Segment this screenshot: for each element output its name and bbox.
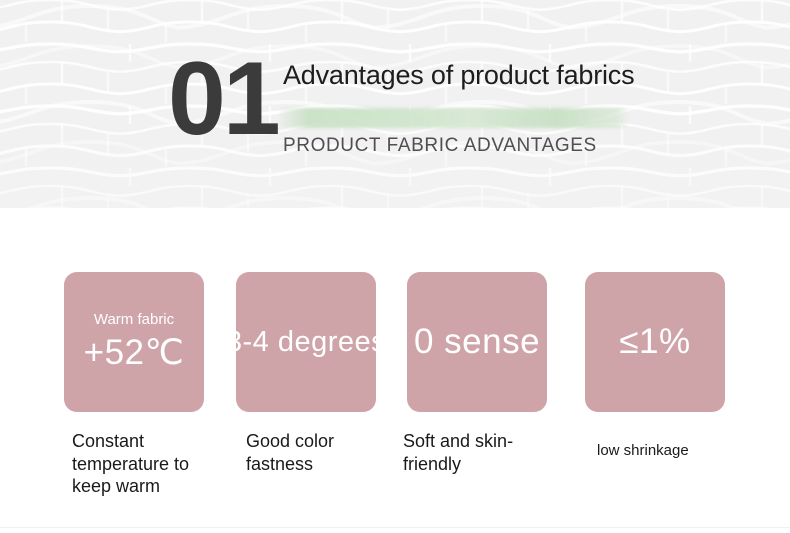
card-value: 0 sense — [414, 324, 540, 361]
feature-caption-low-shrinkage: low shrinkage — [597, 442, 757, 461]
header-title-block: Advantages of product fabrics — [283, 60, 683, 92]
feature-card-low-shrinkage: ≤1% — [585, 272, 725, 412]
card-value: ≤1% — [619, 324, 690, 361]
feature-caption-skin-friendly: Soft and skin-friendly — [403, 430, 553, 475]
feature-caption-color-fastness: Good color fastness — [246, 430, 391, 475]
card-sublabel: Warm fabric — [94, 312, 174, 329]
feature-captions-row: Constant temperature to keep warm Good c… — [0, 430, 790, 510]
feature-card-color-fastness: 3-4 degrees — [236, 272, 376, 412]
header-banner — [0, 0, 790, 208]
bottom-divider — [0, 527, 790, 528]
feature-caption-warm-fabric: Constant temperature to keep warm — [72, 430, 212, 498]
section-number: 01 — [168, 47, 278, 151]
card-value: 3-4 degrees — [226, 327, 386, 357]
title-highlight-stroke — [280, 108, 627, 128]
header-texture-pattern — [0, 0, 790, 208]
page-title: Advantages of product fabrics — [283, 60, 683, 92]
feature-cards-row: Warm fabric +52℃ 3-4 degrees 0 sense ≤1% — [0, 272, 790, 412]
feature-card-skin-friendly: 0 sense — [407, 272, 547, 412]
feature-card-warm-fabric: Warm fabric +52℃ — [64, 272, 204, 412]
card-value: +52℃ — [84, 335, 185, 372]
page-subtitle: PRODUCT FABRIC ADVANTAGES — [283, 135, 597, 157]
